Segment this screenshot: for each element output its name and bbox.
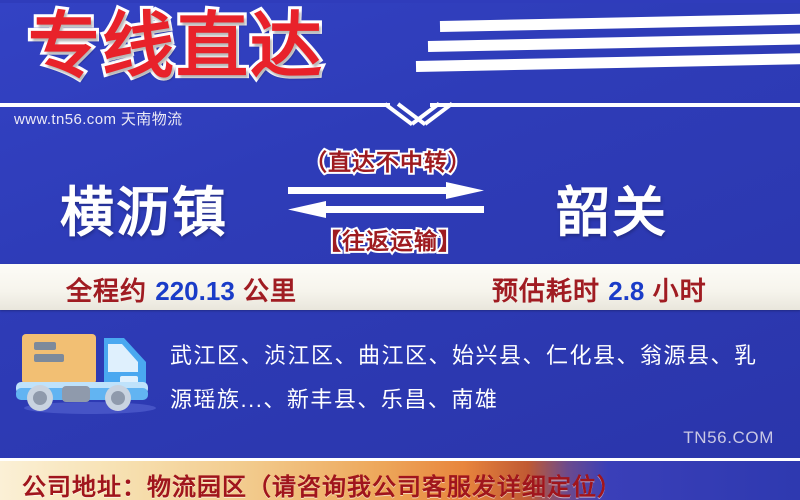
duration-value: 2.8 <box>608 276 644 306</box>
watermark-label: TN56.COM <box>683 428 774 448</box>
header-divider-left <box>0 103 390 107</box>
footer-address-bar: 公司地址：物流园区（请咨询我公司客服发详细定位） <box>0 458 800 500</box>
diagonal-stripe-icon <box>416 53 800 72</box>
header-divider-right <box>430 103 800 107</box>
coverage-line-1: 武江区、浈江区、曲江区、始兴县、仁化县、翁源县、乳 <box>170 334 770 378</box>
coverage-area-list: 武江区、浈江区、曲江区、始兴县、仁化县、翁源县、乳 源瑶族...、新丰县、乐昌、… <box>170 334 770 422</box>
distance-value: 220.13 <box>155 276 235 306</box>
origin-city-label: 横沥镇 <box>60 168 228 247</box>
delivery-truck-icon <box>8 320 168 416</box>
footer-address-text: 公司地址：物流园区（请咨询我公司客服发详细定位） <box>22 467 622 500</box>
arrow-left-icon <box>288 201 484 218</box>
logistics-route-poster: 专线直达 www.tn56.com 天南物流 横沥镇 韶关 （直达不中转） 【往… <box>0 0 800 500</box>
round-trip-tag: 【往返运输】 <box>318 222 462 256</box>
diagonal-stripe-icon <box>428 33 800 52</box>
diagonal-stripe-icon <box>440 13 800 32</box>
page-title: 专线直达 <box>28 4 324 90</box>
duration-metric: 预估耗时 2.8 小时 <box>492 271 707 308</box>
bidirectional-arrow-group <box>288 182 484 218</box>
duration-label: 预估耗时 <box>492 276 600 306</box>
distance-label: 全程约 <box>66 276 147 306</box>
destination-city-label: 韶关 <box>556 168 668 247</box>
duration-unit: 小时 <box>653 276 707 306</box>
metrics-bar: 全程约 220.13 公里 预估耗时 2.8 小时 <box>0 264 800 310</box>
coverage-line-2: 源瑶族...、新丰县、乐昌、南雄 <box>170 378 770 422</box>
distance-unit: 公里 <box>243 276 297 306</box>
brand-site-line: www.tn56.com 天南物流 <box>14 108 183 129</box>
top-trim <box>0 0 800 3</box>
arrow-right-icon <box>288 182 484 199</box>
distance-metric: 全程约 220.13 公里 <box>66 271 297 308</box>
direct-service-tag: （直达不中转） <box>304 143 472 177</box>
